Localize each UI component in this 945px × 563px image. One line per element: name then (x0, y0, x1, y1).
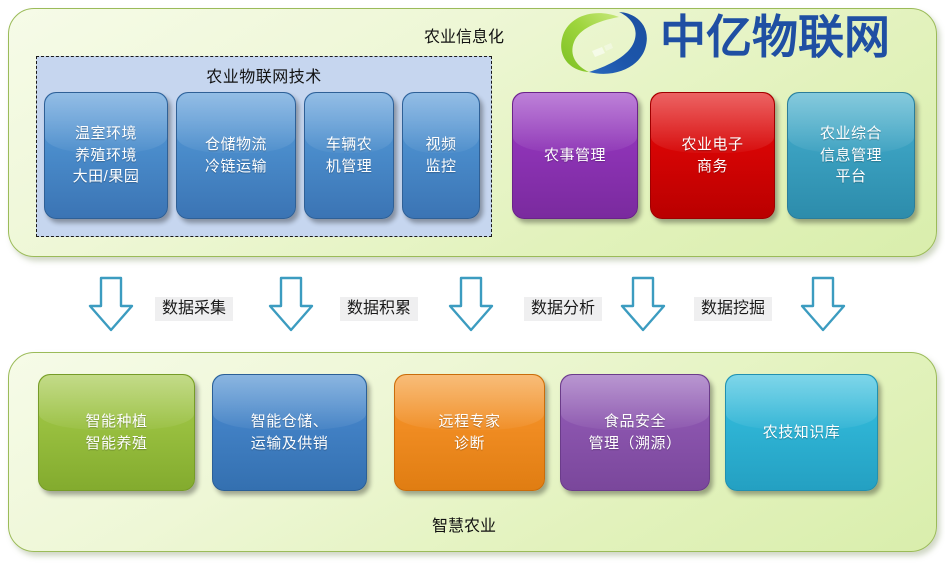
iot-tile-1-label: 温室环境养殖环境大田/果园 (69, 123, 144, 188)
app-tile-info-platform-label: 农业综合信息管理平台 (816, 123, 886, 188)
bottom-panel-title: 智慧农业 (432, 512, 496, 536)
diagram-canvas: 农业信息化 中亿物联网 (0, 0, 945, 563)
app-tile-farm-management-label: 农事管理 (540, 145, 610, 167)
page-title: 农业信息化 (424, 23, 504, 47)
smart-tile-knowledge-base[interactable]: 农技知识库 (725, 374, 878, 491)
smart-tile-food-safety[interactable]: 食品安全管理（溯源） (560, 374, 710, 491)
smart-tile-planting-breeding-label: 智能种植智能养殖 (81, 411, 151, 455)
flow-arrow-3 (448, 276, 494, 332)
iot-tile-4[interactable]: 视频监控 (402, 92, 480, 219)
iot-tile-3-label: 车辆农机管理 (322, 134, 377, 178)
iot-tile-2-label: 仓储物流冷链运输 (201, 134, 271, 178)
smart-tile-remote-expert-label: 远程专家诊断 (434, 411, 504, 455)
app-tile-ecommerce[interactable]: 农业电子商务 (650, 92, 775, 219)
iot-group-title: 农业物联网技术 (37, 63, 491, 87)
flow-arrow-5 (800, 276, 846, 332)
iot-tile-3[interactable]: 车辆农机管理 (304, 92, 394, 219)
app-tile-farm-management[interactable]: 农事管理 (512, 92, 638, 219)
flow-arrow-2 (268, 276, 314, 332)
flow-label-2: 数据积累 (340, 297, 418, 321)
flow-label-1: 数据采集 (155, 297, 233, 321)
iot-tile-1[interactable]: 温室环境养殖环境大田/果园 (44, 92, 168, 219)
flow-arrow-1 (88, 276, 134, 332)
smart-tile-planting-breeding[interactable]: 智能种植智能养殖 (38, 374, 195, 491)
smart-tile-warehouse-logistics-label: 智能仓储、运输及供销 (247, 411, 333, 455)
smart-tile-knowledge-base-label: 农技知识库 (759, 422, 845, 444)
flow-label-4: 数据挖掘 (694, 297, 772, 321)
swirl-logo-icon (556, 8, 652, 76)
iot-tile-4-label: 视频监控 (421, 134, 460, 178)
flow-arrow-4 (620, 276, 666, 332)
app-tile-info-platform[interactable]: 农业综合信息管理平台 (787, 92, 915, 219)
app-tile-ecommerce-label: 农业电子商务 (677, 134, 747, 178)
smart-tile-warehouse-logistics[interactable]: 智能仓储、运输及供销 (212, 374, 367, 491)
brand-wordmark: 中亿物联网 (660, 14, 890, 60)
smart-tile-food-safety-label: 食品安全管理（溯源） (584, 411, 685, 455)
iot-tile-2[interactable]: 仓储物流冷链运输 (176, 92, 296, 219)
smart-tile-remote-expert[interactable]: 远程专家诊断 (394, 374, 545, 491)
flow-label-3: 数据分析 (524, 297, 602, 321)
